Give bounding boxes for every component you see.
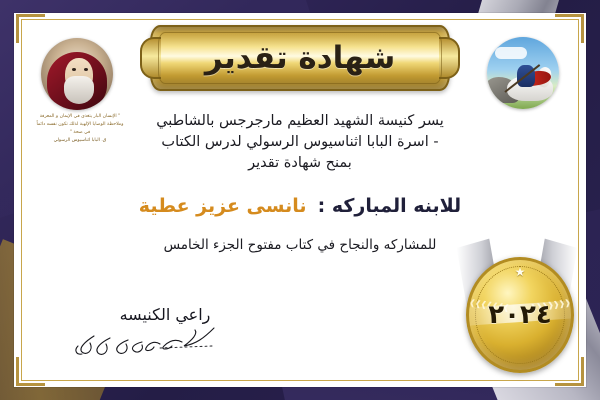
saint-george-on-horseback-icon [487, 37, 559, 109]
plaque-bump-left [140, 37, 161, 79]
eye-right [84, 68, 88, 71]
handwritten-signature [70, 326, 260, 360]
signature-title: راعي الكنيسه [70, 305, 260, 324]
plaque-bump-right [439, 37, 460, 79]
body-line-3: بمنح شهادة تقدير [14, 153, 586, 174]
beard-shape [64, 76, 94, 104]
certificate-title: شهادة تقدير [205, 40, 395, 76]
body-line-1: يسر كنيسة الشهيد العظيم مارجرجس بالشاطبي [14, 111, 586, 132]
medal-disc: ❱❱❱❱❱❱❱ ❱❱❱❱❱❱❱ ★ ٢٠٢٤ [466, 257, 574, 373]
year-medal: ❱❱❱❱❱❱❱ ❱❱❱❱❱❱❱ ★ ٢٠٢٤ [458, 247, 576, 379]
recipient-name: نانسى عزيز عطية [139, 195, 307, 217]
star-icon: ★ [515, 266, 526, 278]
body-line-2: - اسرة البابا اثناسيوس الرسولي لدرس الكت… [14, 132, 586, 153]
certificate-page: شهادة تقدير " الإنسان البار يتغذى في الإ… [0, 0, 600, 400]
certificate-card: شهادة تقدير " الإنسان البار يتغذى في الإ… [14, 13, 586, 387]
corner-accent-bottom-left [16, 357, 45, 386]
certificate-body: يسر كنيسة الشهيد العظيم مارجرجس بالشاطبي… [14, 111, 586, 174]
corner-accent-top-right [555, 14, 584, 43]
eye-left [72, 68, 76, 71]
recipient-label: للابنه المباركه : [318, 195, 462, 217]
cloud-shape [495, 47, 527, 59]
athanasius-artwork [41, 38, 113, 110]
signature-block: راعي الكنيسه [70, 305, 260, 360]
saint-athanasius-portrait-icon [41, 38, 113, 110]
recipient-row: للابنه المباركه : نانسى عزيز عطية [14, 195, 586, 217]
title-plaque: شهادة تقدير [150, 25, 450, 91]
saint-george-artwork [487, 37, 559, 109]
medal-year-text: ٢٠٢٤ [469, 300, 571, 330]
